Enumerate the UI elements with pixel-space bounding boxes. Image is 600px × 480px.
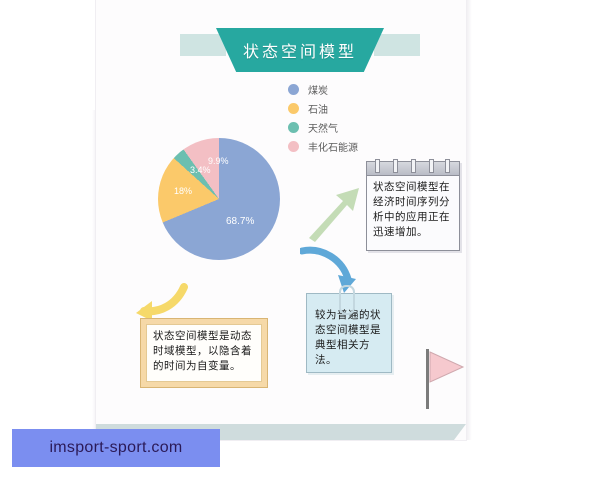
legend-label: 煤炭 (308, 82, 328, 97)
banner-plate: 状态空间模型 (216, 28, 384, 72)
legend-swatch-icon (288, 84, 299, 95)
pie-label-coal: 68.7% (226, 216, 254, 227)
legend-item-non-fossil: 丰化石能源 (288, 137, 398, 155)
note-framed-text: 状态空间模型是动态时域模型，以隐含着的时间为自变量。 (153, 329, 255, 374)
paperclip-icon (339, 285, 355, 315)
memo-binder (367, 162, 459, 176)
legend-swatch-icon (288, 141, 299, 152)
legend-item-coal: 煤炭 (288, 80, 398, 98)
banner-ribbon-left (180, 34, 226, 56)
legend-label: 丰化石能源 (308, 139, 358, 154)
banner-ribbon-right (374, 34, 420, 56)
watermark-banner: imsport-sport.com (12, 429, 220, 467)
note-memo: 状态空间模型在经济时间序列分析中的应用正在迅速增加。 (366, 161, 460, 251)
note-framed: 状态空间模型是动态时域模型，以隐含着的时间为自变量。 (140, 318, 268, 388)
title-banner: 状态空间模型 (180, 28, 420, 74)
legend-label: 天然气 (308, 120, 338, 135)
note-memo-text: 状态空间模型在经济时间序列分析中的应用正在迅速增加。 (373, 180, 454, 240)
legend-swatch-icon (288, 103, 299, 114)
pie-label-non-fossil: 9.9% (208, 156, 229, 166)
legend-item-natural-gas: 天然气 (288, 118, 398, 136)
chart-legend: 煤炭 石油 天然气 丰化石能源 (288, 80, 398, 156)
pie-chart: 68.7% 18% 3.4% 9.9% (158, 138, 280, 260)
pie-label-oil: 18% (174, 186, 192, 196)
note-clipped: 较为普遍的状态空间模型是典型相关方法。 (306, 293, 392, 373)
legend-swatch-icon (288, 122, 299, 133)
note-clipped-text: 较为普遍的状态空间模型是典型相关方法。 (315, 308, 385, 368)
pie-label-natural-gas: 3.4% (190, 165, 211, 175)
green-arrow-icon (303, 183, 365, 243)
page-title: 状态空间模型 (243, 38, 357, 62)
watermark-text: imsport-sport.com (49, 439, 182, 457)
flag-icon (408, 345, 468, 410)
legend-label: 石油 (308, 101, 328, 116)
legend-item-oil: 石油 (288, 99, 398, 117)
